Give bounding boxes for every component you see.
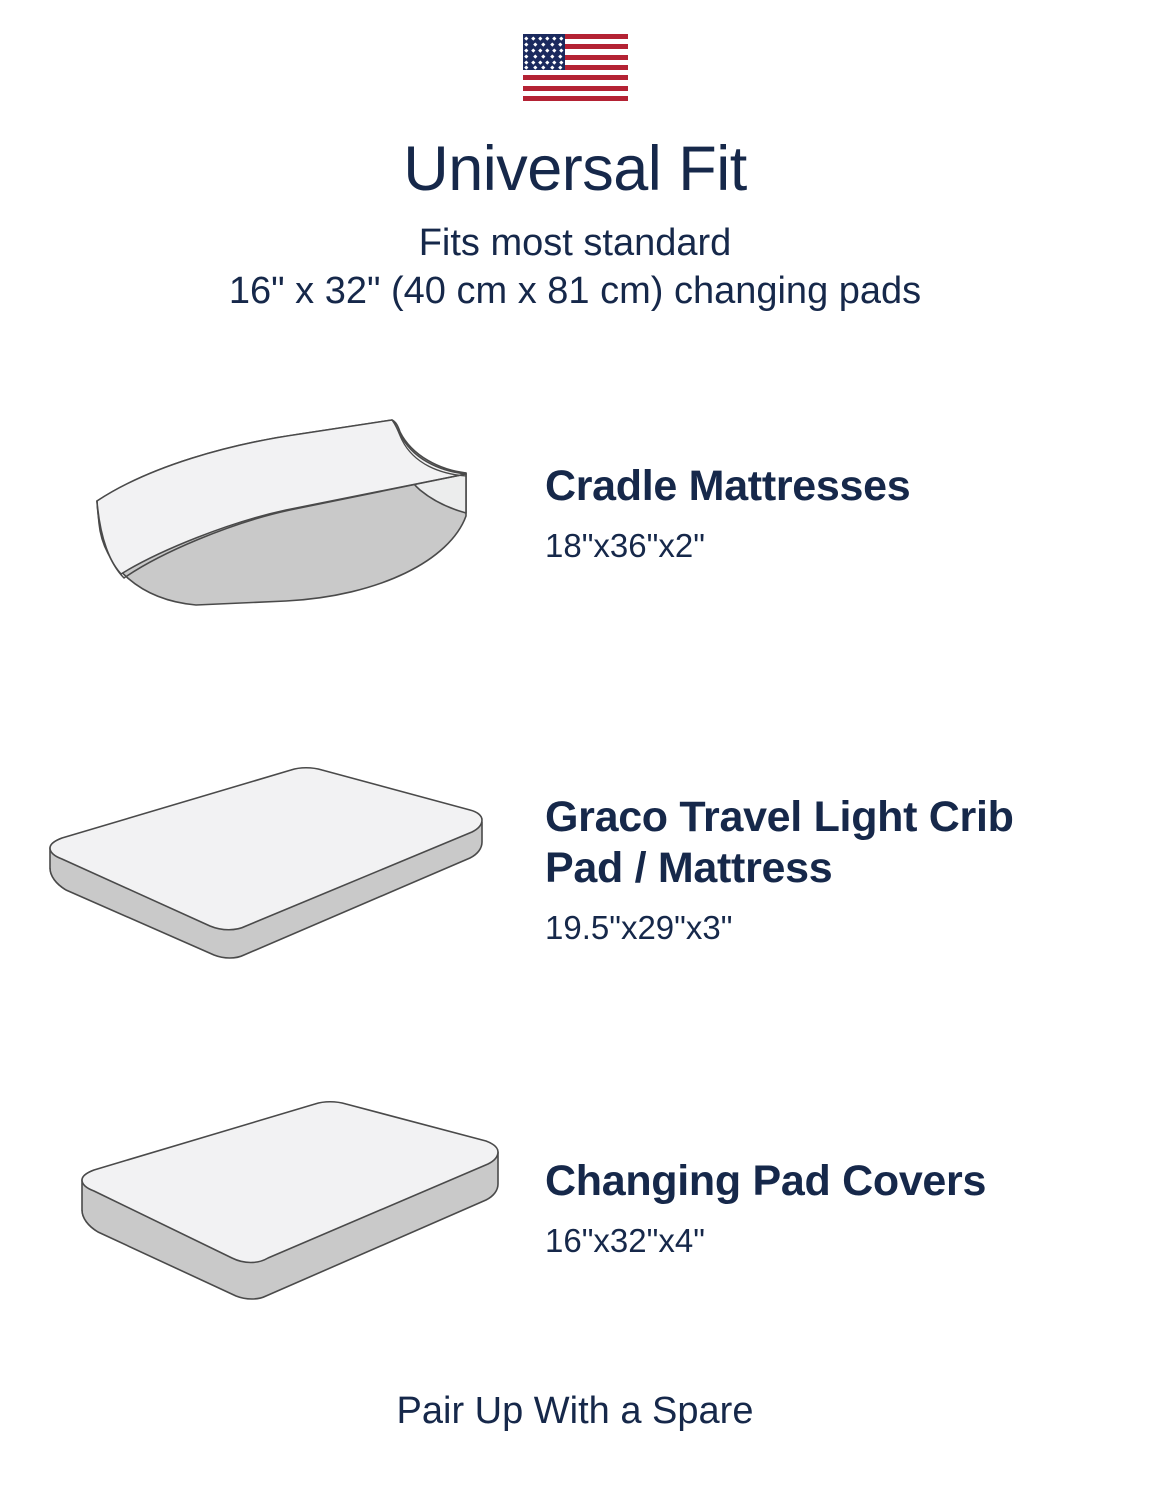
product-row-graco-travel-light: Graco Travel Light Crib Pad / Mattress 1…	[0, 760, 1150, 980]
header-block: Universal Fit Fits most standard 16" x 3…	[0, 138, 1150, 316]
footer-block: Pair Up With a Spare	[0, 1390, 1150, 1433]
product-name: Graco Travel Light Crib Pad / Mattress	[545, 792, 1110, 893]
subtitle-line-2: 16" x 32" (40 cm x 81 cm) changing pads	[0, 267, 1150, 315]
product-info: Graco Travel Light Crib Pad / Mattress 1…	[545, 792, 1150, 947]
contoured-changing-pad-icon	[0, 398, 545, 628]
product-name-line-1: Graco Travel Light Crib	[545, 793, 1014, 841]
product-name: Cradle Mattresses	[545, 461, 1110, 512]
product-row-changing-pad-covers: Changing Pad Covers 16"x32"x4"	[0, 1098, 1150, 1318]
flat-crib-mattress-icon	[0, 760, 545, 980]
thick-changing-pad-icon	[0, 1098, 545, 1318]
footer-tagline: Pair Up With a Spare	[397, 1390, 754, 1432]
product-dimensions: 16"x32"x4"	[545, 1221, 1110, 1261]
product-name-line-2: Pad / Mattress	[545, 844, 832, 892]
product-row-cradle-mattresses: Cradle Mattresses 18"x36"x2"	[0, 398, 1150, 628]
product-info: Changing Pad Covers 16"x32"x4"	[545, 1156, 1150, 1260]
product-name: Changing Pad Covers	[545, 1156, 1110, 1207]
page-subtitle: Fits most standard 16" x 32" (40 cm x 81…	[0, 219, 1150, 316]
product-info: Cradle Mattresses 18"x36"x2"	[545, 461, 1150, 565]
usa-flag-icon	[523, 34, 628, 101]
product-dimensions: 18"x36"x2"	[545, 526, 1110, 566]
product-dimensions: 19.5"x29"x3"	[545, 908, 1110, 948]
flag-canton-icon	[523, 34, 565, 70]
flag-container	[0, 34, 1150, 101]
subtitle-line-1: Fits most standard	[419, 222, 732, 264]
page-title: Universal Fit	[0, 138, 1150, 201]
